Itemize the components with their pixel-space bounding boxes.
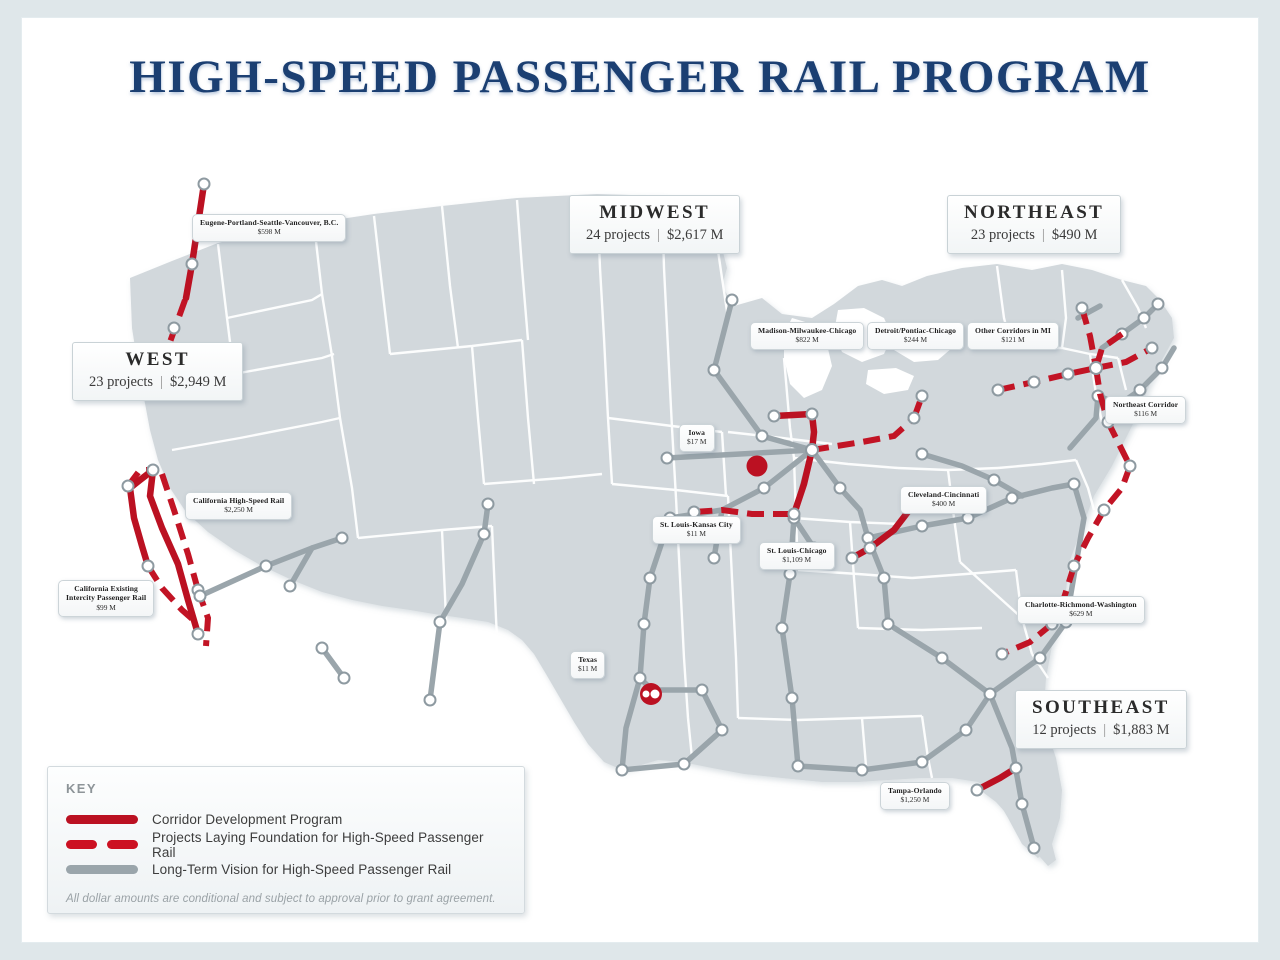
corridor-name: St. Louis-Kansas City bbox=[660, 520, 733, 529]
corridor-name: St. Louis-Chicago bbox=[767, 546, 827, 555]
solid-red-line-icon bbox=[66, 815, 138, 824]
region-amount: $2,949 M bbox=[170, 374, 226, 390]
corridor-amount: $1,250 M bbox=[888, 795, 942, 805]
legend-label: Corridor Development Program bbox=[152, 812, 342, 827]
region-separator: | bbox=[1042, 227, 1045, 243]
corridor-label-texas: Texas $11 M bbox=[570, 651, 605, 679]
poster: HIGH-SPEED PASSENGER RAIL PROGRAM bbox=[22, 18, 1258, 942]
corridor-label-cleveland-cincinnati: Cleveland-Cincinnati $400 M bbox=[900, 486, 987, 514]
corridor-label-tampa-orlando: Tampa-Orlando $1,250 M bbox=[880, 782, 950, 810]
corridor-label-stl-chicago: St. Louis-Chicago $1,109 M bbox=[759, 542, 835, 570]
corridor-label-charlotte-richmond-washington: Charlotte-Richmond-Washington $629 M bbox=[1017, 596, 1145, 624]
corridor-name: California High-Speed Rail bbox=[193, 496, 284, 505]
corridor-name: Iowa bbox=[687, 428, 707, 437]
region-stats: 24 projects|$2,617 M bbox=[586, 227, 723, 244]
corridor-amount: $11 M bbox=[660, 529, 733, 539]
corridor-name: Other Corridors in MI bbox=[975, 326, 1051, 335]
corridor-name: Madison-Milwaukee-Chicago bbox=[758, 326, 856, 335]
corridor-name-line2: Intercity Passenger Rail bbox=[66, 593, 146, 602]
region-card-northeast: NORTHEAST 23 projects|$490 M bbox=[947, 195, 1121, 254]
region-projects: 12 projects bbox=[1032, 722, 1096, 738]
corridor-amount: $99 M bbox=[66, 603, 146, 613]
region-separator: | bbox=[160, 374, 163, 390]
corridor-label-madison-milwaukee-chicago: Madison-Milwaukee-Chicago $822 M bbox=[750, 322, 864, 350]
legend-label: Projects Laying Foundation for High-Spee… bbox=[152, 830, 506, 860]
corridor-label-other-corridors-mi: Other Corridors in MI $121 M bbox=[967, 322, 1059, 350]
region-card-west: WEST 23 projects|$2,949 M bbox=[72, 342, 243, 401]
corridor-name: Charlotte-Richmond-Washington bbox=[1025, 600, 1137, 609]
corridor-label-iowa: Iowa $17 M bbox=[679, 424, 715, 452]
corridor-name: Texas bbox=[578, 655, 597, 664]
corridor-label-california-existing: California Existing Intercity Passenger … bbox=[58, 580, 154, 617]
corridor-amount: $822 M bbox=[758, 335, 856, 345]
corridor-amount: $2,250 M bbox=[193, 505, 284, 515]
region-projects: 24 projects bbox=[586, 227, 650, 243]
region-stats: 12 projects|$1,883 M bbox=[1032, 722, 1170, 739]
corridor-amount: $400 M bbox=[908, 499, 979, 509]
corridor-amount: $598 M bbox=[200, 227, 338, 237]
region-projects: 23 projects bbox=[89, 374, 153, 390]
corridor-name: Detroit/Pontiac-Chicago bbox=[875, 326, 956, 335]
legend-footnote: All dollar amounts are conditional and s… bbox=[66, 893, 506, 905]
corridor-amount: $1,109 M bbox=[767, 555, 827, 565]
legend-item-long-term-vision: Long-Term Vision for High-Speed Passenge… bbox=[66, 857, 506, 882]
corridor-label-detroit-pontiac-chicago: Detroit/Pontiac-Chicago $244 M bbox=[867, 322, 964, 350]
region-projects: 23 projects bbox=[971, 227, 1035, 243]
region-name: NORTHEAST bbox=[964, 203, 1104, 224]
region-name: MIDWEST bbox=[586, 203, 723, 224]
corridor-amount: $17 M bbox=[687, 437, 707, 447]
legend-item-corridor-development: Corridor Development Program bbox=[66, 807, 506, 832]
corridor-name: California Existing bbox=[66, 584, 146, 593]
region-separator: | bbox=[1103, 722, 1106, 738]
corridor-name: Eugene-Portland-Seattle-Vancouver, B.C. bbox=[200, 218, 338, 227]
legend-title: KEY bbox=[66, 781, 506, 796]
region-name: SOUTHEAST bbox=[1032, 698, 1170, 719]
corridor-amount: $11 M bbox=[578, 664, 597, 674]
corridor-name: Northeast Corridor bbox=[1113, 400, 1178, 409]
region-card-midwest: MIDWEST 24 projects|$2,617 M bbox=[569, 195, 740, 254]
region-amount: $2,617 M bbox=[667, 227, 723, 243]
corridor-label-pnw: Eugene-Portland-Seattle-Vancouver, B.C. … bbox=[192, 214, 346, 242]
region-stats: 23 projects|$490 M bbox=[964, 227, 1104, 244]
region-stats: 23 projects|$2,949 M bbox=[89, 374, 226, 391]
region-name: WEST bbox=[89, 350, 226, 371]
corridor-amount: $244 M bbox=[875, 335, 956, 345]
corridor-amount: $629 M bbox=[1025, 609, 1137, 619]
map-legend: KEY Corridor Development Program Project… bbox=[47, 766, 525, 914]
dashed-red-line-icon bbox=[66, 840, 138, 849]
region-amount: $490 M bbox=[1052, 227, 1098, 243]
solid-gray-line-icon bbox=[66, 865, 138, 874]
corridor-label-california-hsr: California High-Speed Rail $2,250 M bbox=[185, 492, 292, 520]
corridor-amount: $116 M bbox=[1113, 409, 1178, 419]
corridor-label-northeast-corridor: Northeast Corridor $116 M bbox=[1105, 396, 1186, 424]
corridor-name: Tampa-Orlando bbox=[888, 786, 942, 795]
region-amount: $1,883 M bbox=[1113, 722, 1169, 738]
corridor-name: Cleveland-Cincinnati bbox=[908, 490, 979, 499]
region-separator: | bbox=[657, 227, 660, 243]
legend-item-laying-foundation: Projects Laying Foundation for High-Spee… bbox=[66, 832, 506, 857]
corridor-label-stl-kansas-city: St. Louis-Kansas City $11 M bbox=[652, 516, 741, 544]
legend-label: Long-Term Vision for High-Speed Passenge… bbox=[152, 862, 451, 877]
corridor-amount: $121 M bbox=[975, 335, 1051, 345]
region-card-southeast: SOUTHEAST 12 projects|$1,883 M bbox=[1015, 690, 1187, 749]
